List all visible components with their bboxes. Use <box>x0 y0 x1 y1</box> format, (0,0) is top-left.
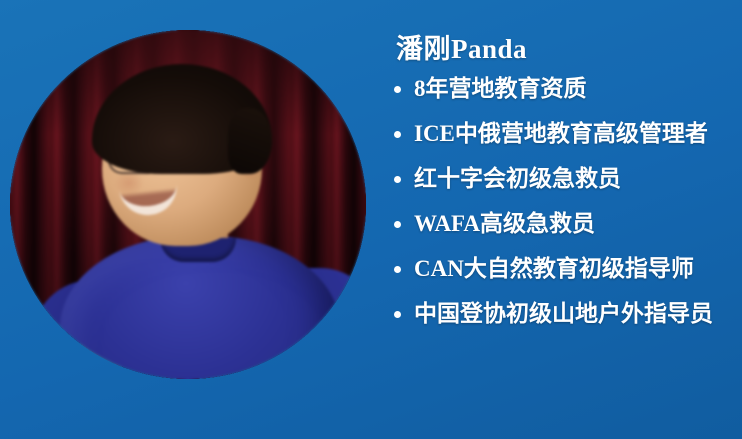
portrait-photo-circle <box>10 30 366 379</box>
credential-text: ICE中俄营地教育高级管理者 <box>414 121 708 146</box>
credential-text: 中国登协初级山地户外指导员 <box>414 301 713 326</box>
credential-text: 红十字会初级急救员 <box>414 166 621 191</box>
portrait-photo <box>10 30 366 379</box>
bullet-icon <box>394 221 401 228</box>
bullet-icon <box>394 311 401 318</box>
list-item: 红十字会初级急救员 <box>392 167 736 190</box>
list-item: WAFA高级急救员 <box>392 212 736 235</box>
bullet-icon <box>394 131 401 138</box>
profile-slide: 潘刚Panda 8年营地教育资质 ICE中俄营地教育高级管理者 红十字会初级急救… <box>0 0 742 439</box>
list-item: 8年营地教育资质 <box>392 77 736 100</box>
credentials-list: 8年营地教育资质 ICE中俄营地教育高级管理者 红十字会初级急救员 WAFA高级… <box>392 77 736 325</box>
bullet-icon <box>394 86 401 93</box>
list-item: 中国登协初级山地户外指导员 <box>392 302 736 325</box>
credential-text: 8年营地教育资质 <box>414 76 587 101</box>
hair-side <box>228 108 272 174</box>
credential-text: CAN大自然教育初级指导师 <box>414 256 694 281</box>
bullet-icon <box>394 176 401 183</box>
credential-text: WAFA高级急救员 <box>414 211 595 236</box>
bullet-icon <box>394 266 401 273</box>
list-item: ICE中俄营地教育高级管理者 <box>392 122 736 145</box>
profile-text-panel: 潘刚Panda 8年营地教育资质 ICE中俄营地教育高级管理者 红十字会初级急救… <box>392 34 736 325</box>
list-item: CAN大自然教育初级指导师 <box>392 257 736 280</box>
person-name: 潘刚Panda <box>396 34 736 65</box>
